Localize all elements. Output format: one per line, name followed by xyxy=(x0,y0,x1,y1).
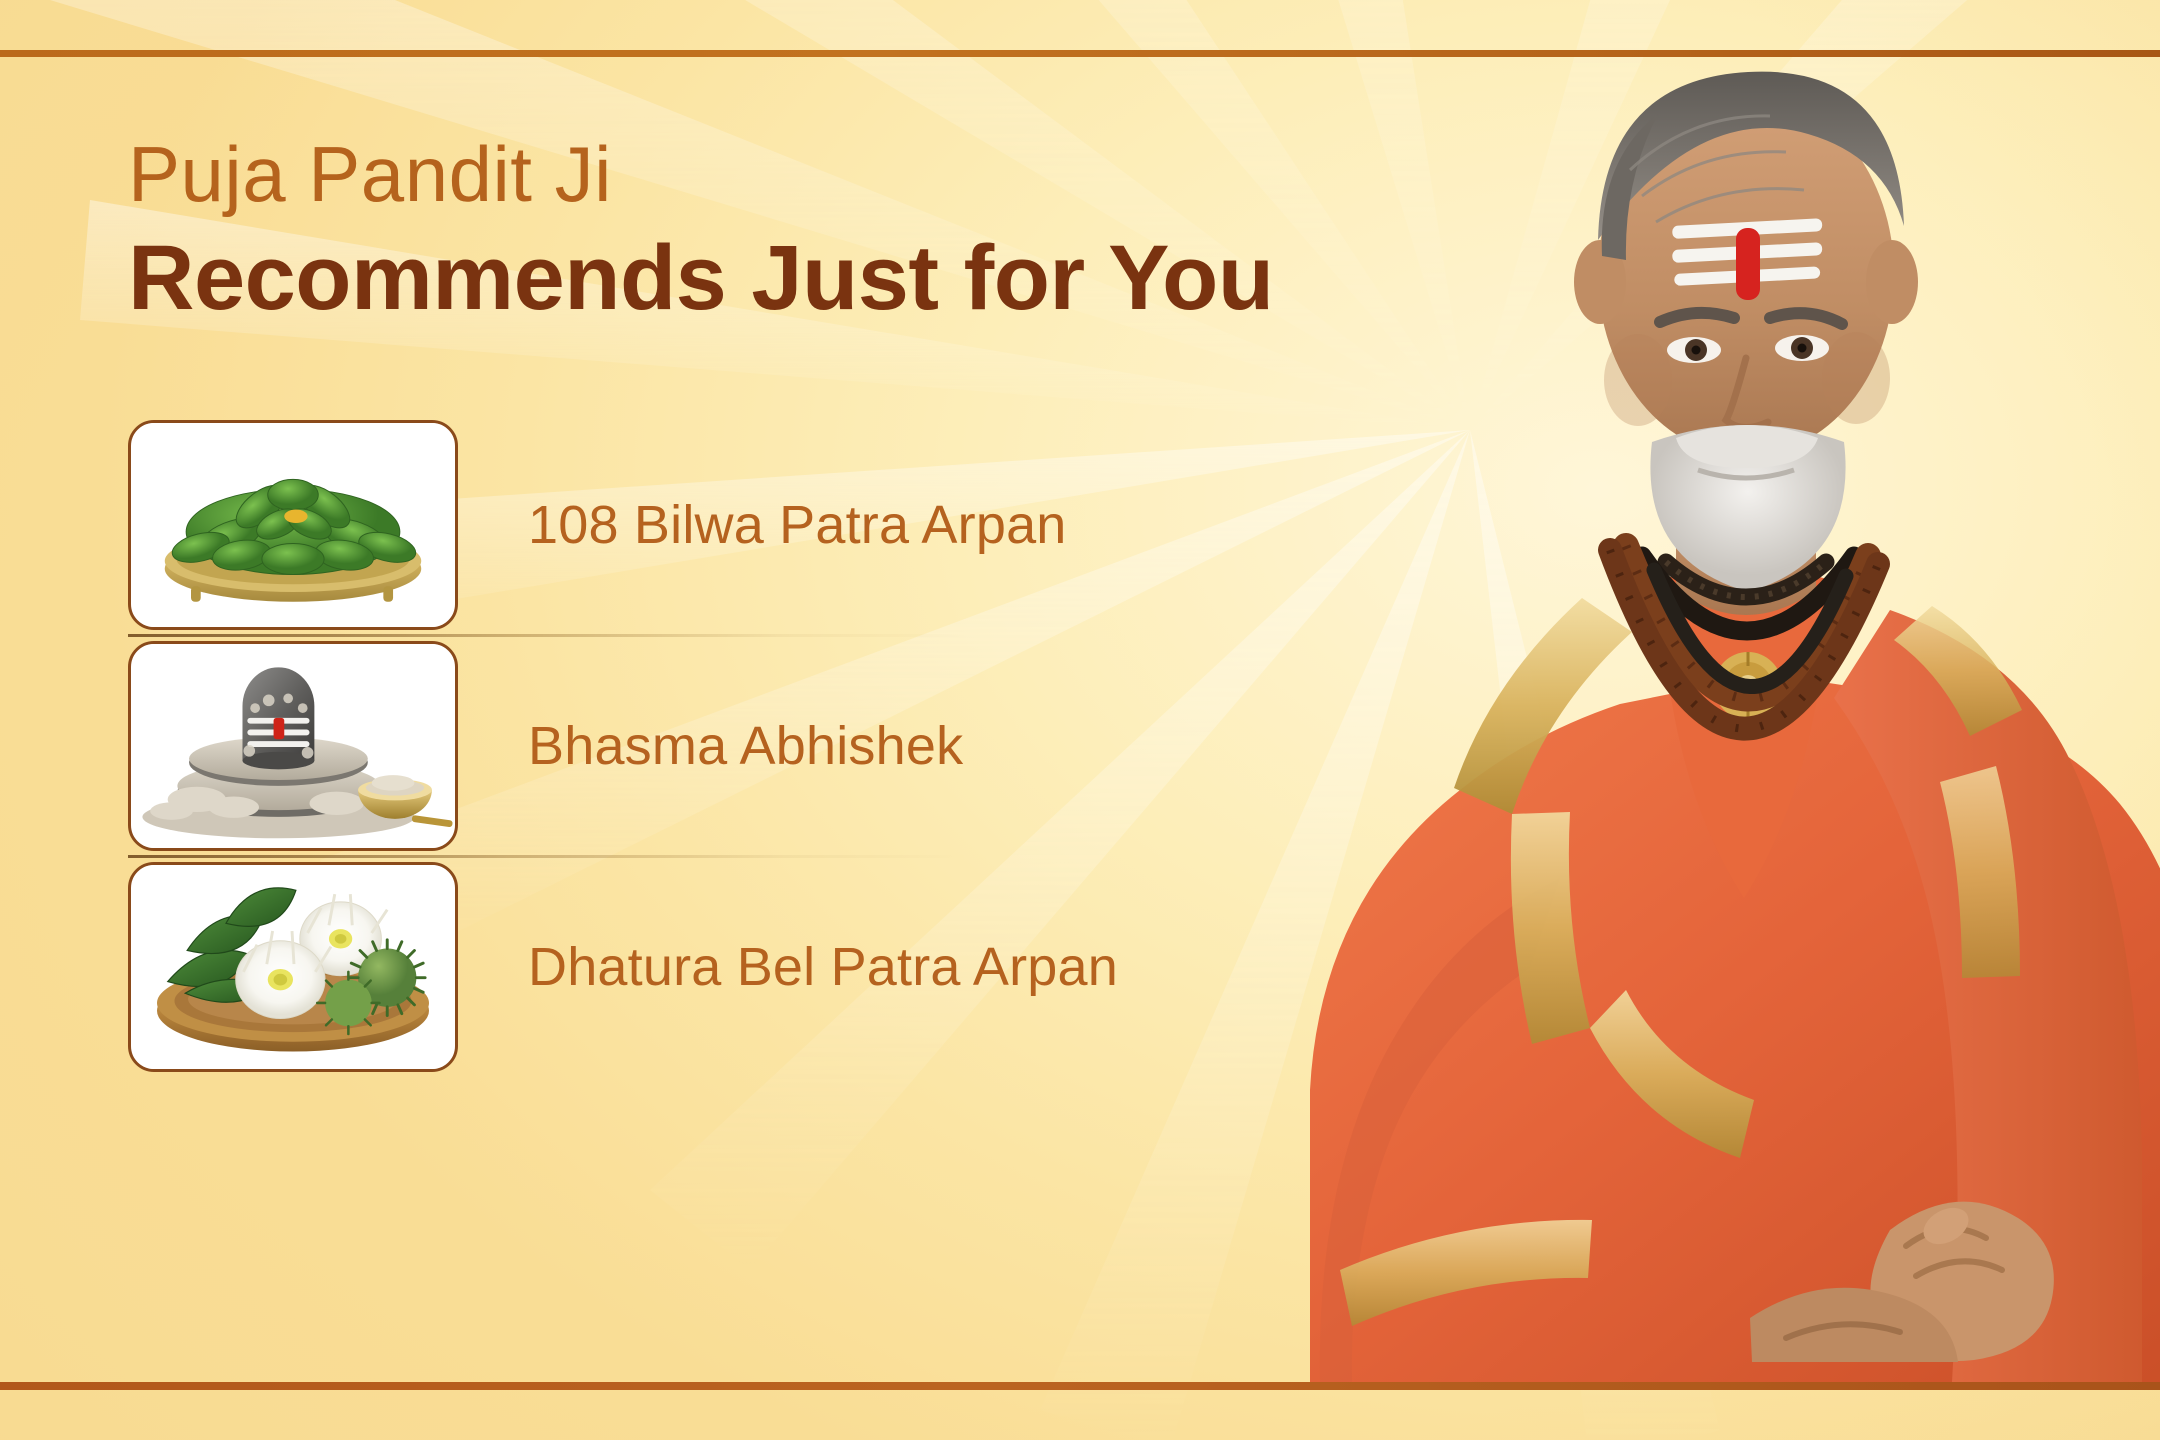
list-item-label: Dhatura Bel Patra Arpan xyxy=(528,936,1118,998)
list-item-label: Bhasma Abhishek xyxy=(528,715,963,777)
bilwa-leaves-brass-plate-image xyxy=(128,420,458,630)
list-item[interactable]: 108 Bilwa Patra Arpan xyxy=(128,416,978,634)
dhatura-flower-belpatra-plate-image xyxy=(128,862,458,1072)
shivling-bhasma-ash-image xyxy=(128,641,458,851)
list-item[interactable]: Dhatura Bel Patra Arpan xyxy=(128,858,978,1076)
recommended-items-list: 108 Bilwa Patra Arpan xyxy=(128,416,978,1076)
list-item[interactable]: Bhasma Abhishek xyxy=(128,637,978,855)
promo-banner: Puja Pandit Ji Recommends Just for You xyxy=(0,0,2160,1440)
headline-line-1: Puja Pandit Ji xyxy=(128,135,1240,213)
bottom-accent-rule xyxy=(0,1382,2160,1390)
list-item-label: 108 Bilwa Patra Arpan xyxy=(528,494,1067,556)
headline-line-2: Recommends Just for You xyxy=(128,229,1240,328)
pandit-portrait xyxy=(1200,50,2160,1382)
left-content-column: Puja Pandit Ji Recommends Just for You xyxy=(0,50,1240,1382)
